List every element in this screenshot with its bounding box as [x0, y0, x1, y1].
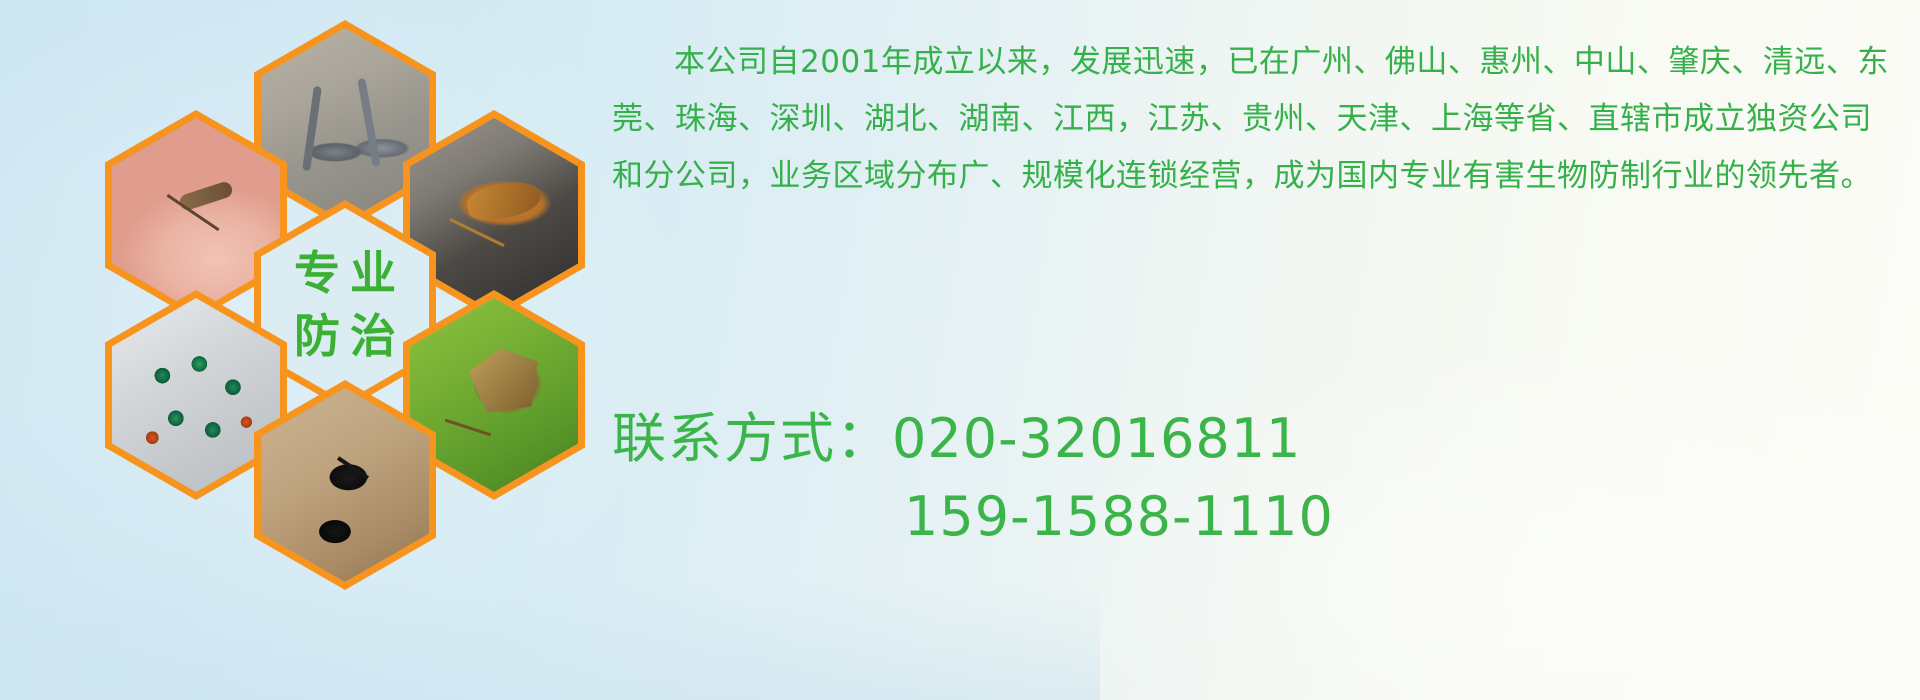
background-bottom-tint	[0, 580, 1100, 700]
company-intro-paragraph: 本公司自2001年成立以来，发展迅速，已在广州、佛山、惠州、中山、肇庆、清远、东…	[612, 34, 1902, 205]
contact-block: 联系方式：020-32016811 159-1588-1110	[612, 400, 1912, 556]
contact-landline[interactable]: 020-32016811	[892, 407, 1301, 470]
slogan-line-1: 专业	[284, 242, 406, 305]
copy-column: 本公司自2001年成立以来，发展迅速，已在广州、佛山、惠州、中山、肇庆、清远、东…	[612, 34, 1912, 205]
promo-banner: 专业 防治 本公司自2001年成立以来，发展迅速，已在广州、佛山、惠州、中山、肇…	[0, 0, 1920, 700]
ant-photo	[261, 388, 429, 582]
honeycomb-collage: 专业 防治	[95, 10, 595, 570]
contact-mobile[interactable]: 159-1588-1110	[904, 485, 1334, 548]
contact-primary-line: 联系方式：020-32016811	[612, 400, 1912, 478]
contact-secondary-line: 159-1588-1110	[612, 478, 1912, 556]
contact-label: 联系方式：	[612, 407, 892, 470]
slogan-line-2: 防治	[284, 305, 406, 368]
hex-inner-ant	[261, 388, 429, 582]
